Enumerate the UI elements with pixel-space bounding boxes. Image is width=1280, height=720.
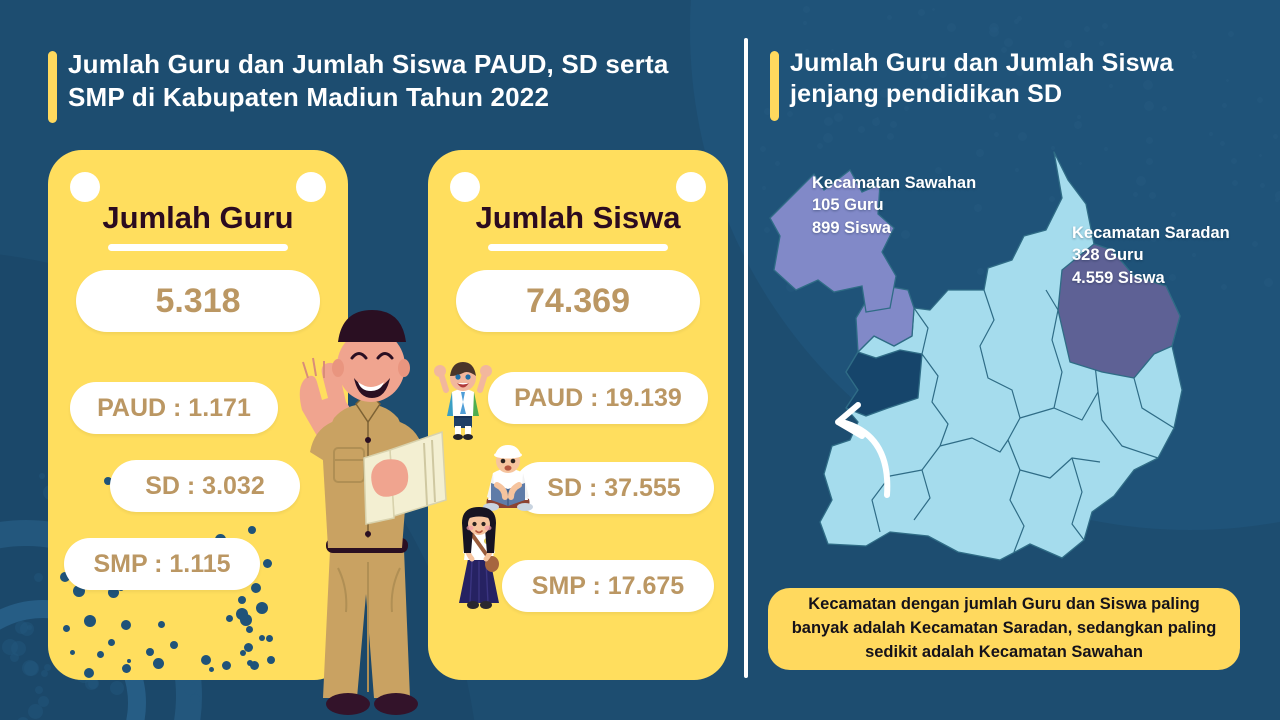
student-girl-illustration (450, 505, 508, 610)
card-punch-hole-right (676, 172, 706, 202)
map-label-saradan-siswa: 4.559 Siswa (1072, 267, 1230, 289)
card-punch-hole-left (450, 172, 480, 202)
card-siswa-item-smp: SMP : 17.675 (502, 560, 714, 612)
card-siswa-title: Jumlah Siswa (428, 200, 728, 236)
map-label-sawahan-siswa: 899 Siswa (812, 217, 976, 239)
page-title-right: Jumlah Guru dan Jumlah Siswa jenjang pen… (790, 48, 1220, 111)
card-guru-title: Jumlah Guru (48, 200, 348, 236)
page-title-left: Jumlah Guru dan Jumlah Siswa PAUD, SD se… (68, 48, 718, 113)
title-right-text: Jumlah Guru dan Jumlah Siswa jenjang pen… (790, 49, 1173, 108)
card-guru-item-smp: SMP : 1.115 (64, 538, 260, 590)
card-siswa-item-paud: PAUD : 19.139 (488, 372, 708, 424)
map-caption: Kecamatan dengan jumlah Guru dan Siswa p… (768, 588, 1240, 670)
map-label-sawahan-guru: 105 Guru (812, 194, 976, 216)
vertical-divider (744, 38, 748, 678)
card-punch-hole-right (296, 172, 326, 202)
card-guru-underline (108, 244, 288, 251)
card-siswa-total: 74.369 (456, 270, 700, 332)
map-label-saradan-guru: 328 Guru (1072, 244, 1230, 266)
card-siswa-underline (488, 244, 668, 251)
title-accent-bar-left (48, 51, 57, 123)
title-accent-bar-right (770, 51, 779, 121)
student-boy-cheering-illustration (432, 360, 494, 440)
map-label-sawahan-name: Kecamatan Sawahan (812, 172, 976, 194)
map-label-saradan: Kecamatan Saradan 328 Guru 4.559 Siswa (1072, 222, 1230, 289)
card-punch-hole-left (70, 172, 100, 202)
card-siswa-item-sd: SD : 37.555 (514, 462, 714, 514)
title-left-text: Jumlah Guru dan Jumlah Siswa PAUD, SD se… (68, 49, 669, 112)
infographic-canvas: Jumlah Guru dan Jumlah Siswa PAUD, SD se… (0, 0, 1280, 720)
card-guru-item-paud: PAUD : 1.171 (70, 382, 278, 434)
map-label-saradan-name: Kecamatan Saradan (1072, 222, 1230, 244)
map-label-sawahan: Kecamatan Sawahan 105 Guru 899 Siswa (812, 172, 976, 239)
